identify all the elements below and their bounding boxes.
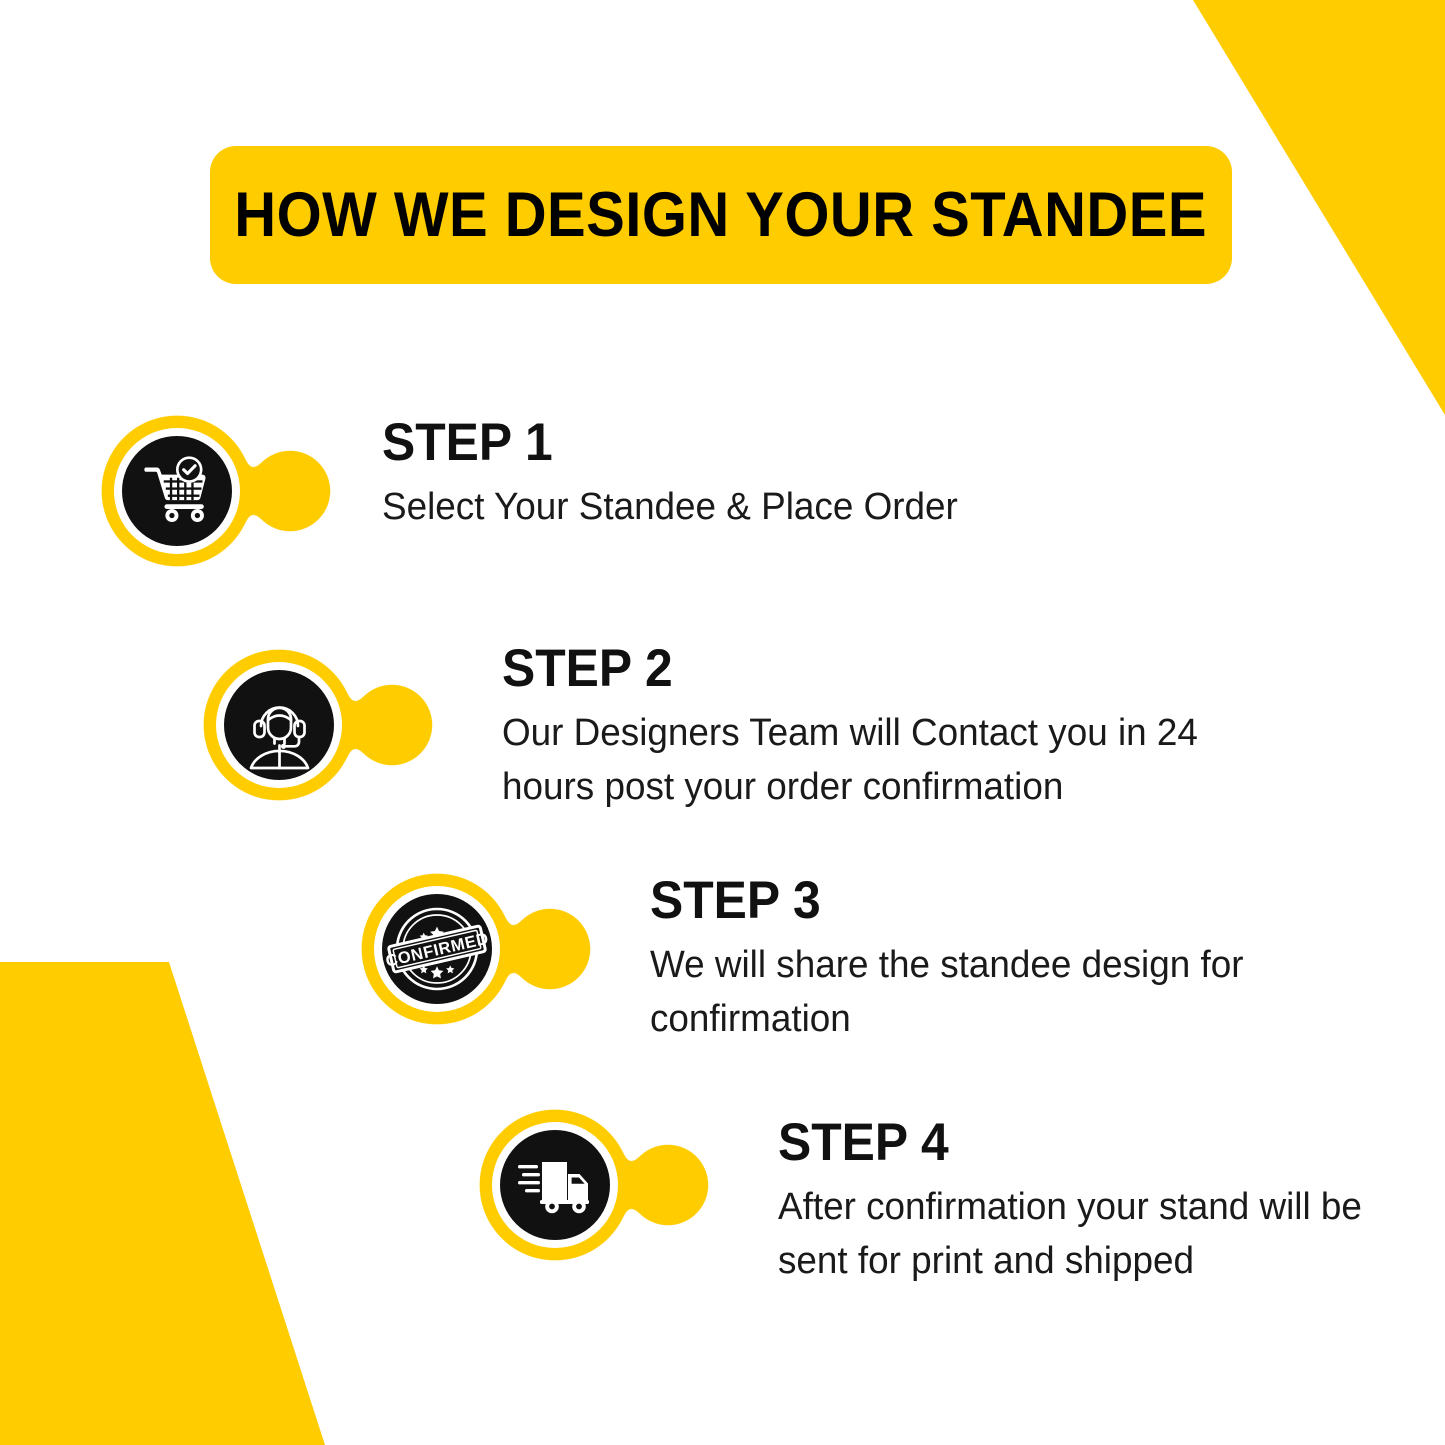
list-item: STEP 1 Select Your Standee & Place Order bbox=[84, 398, 976, 584]
steps-list: STEP 1 Select Your Standee & Place Order bbox=[0, 0, 1445, 1445]
step-3-badge: CONFIRMED bbox=[344, 856, 628, 1042]
step-label: STEP 2 bbox=[502, 642, 1254, 695]
list-item: STEP 2 Our Designers Team will Contact y… bbox=[186, 632, 1302, 818]
infographic-canvas: HOW WE DESIGN YOUR STANDEE bbox=[0, 0, 1445, 1445]
step-2-text: STEP 2 Our Designers Team will Contact y… bbox=[502, 632, 1302, 815]
step-1-badge bbox=[84, 398, 368, 584]
list-item: CONFIRMED STEP 3 We will share the stand… bbox=[344, 856, 1350, 1047]
step-label: STEP 4 bbox=[778, 1116, 1380, 1169]
step-4-badge bbox=[462, 1092, 746, 1278]
step-description: Our Designers Team will Contact you in 2… bbox=[502, 707, 1278, 815]
step-1-text: STEP 1 Select Your Standee & Place Order bbox=[382, 398, 976, 535]
step-description: Select Your Standee & Place Order bbox=[382, 481, 958, 535]
step-label: STEP 1 bbox=[382, 416, 940, 469]
step-label: STEP 3 bbox=[650, 874, 1308, 927]
step-description: We will share the standee design for con… bbox=[650, 939, 1329, 1047]
step-3-text: STEP 3 We will share the standee design … bbox=[650, 856, 1350, 1047]
list-item: STEP 4 After confirmation your stand wil… bbox=[462, 1092, 1418, 1289]
step-4-text: STEP 4 After confirmation your stand wil… bbox=[778, 1092, 1418, 1289]
step-description: After confirmation your stand will be se… bbox=[778, 1181, 1399, 1289]
step-2-badge bbox=[186, 632, 470, 818]
